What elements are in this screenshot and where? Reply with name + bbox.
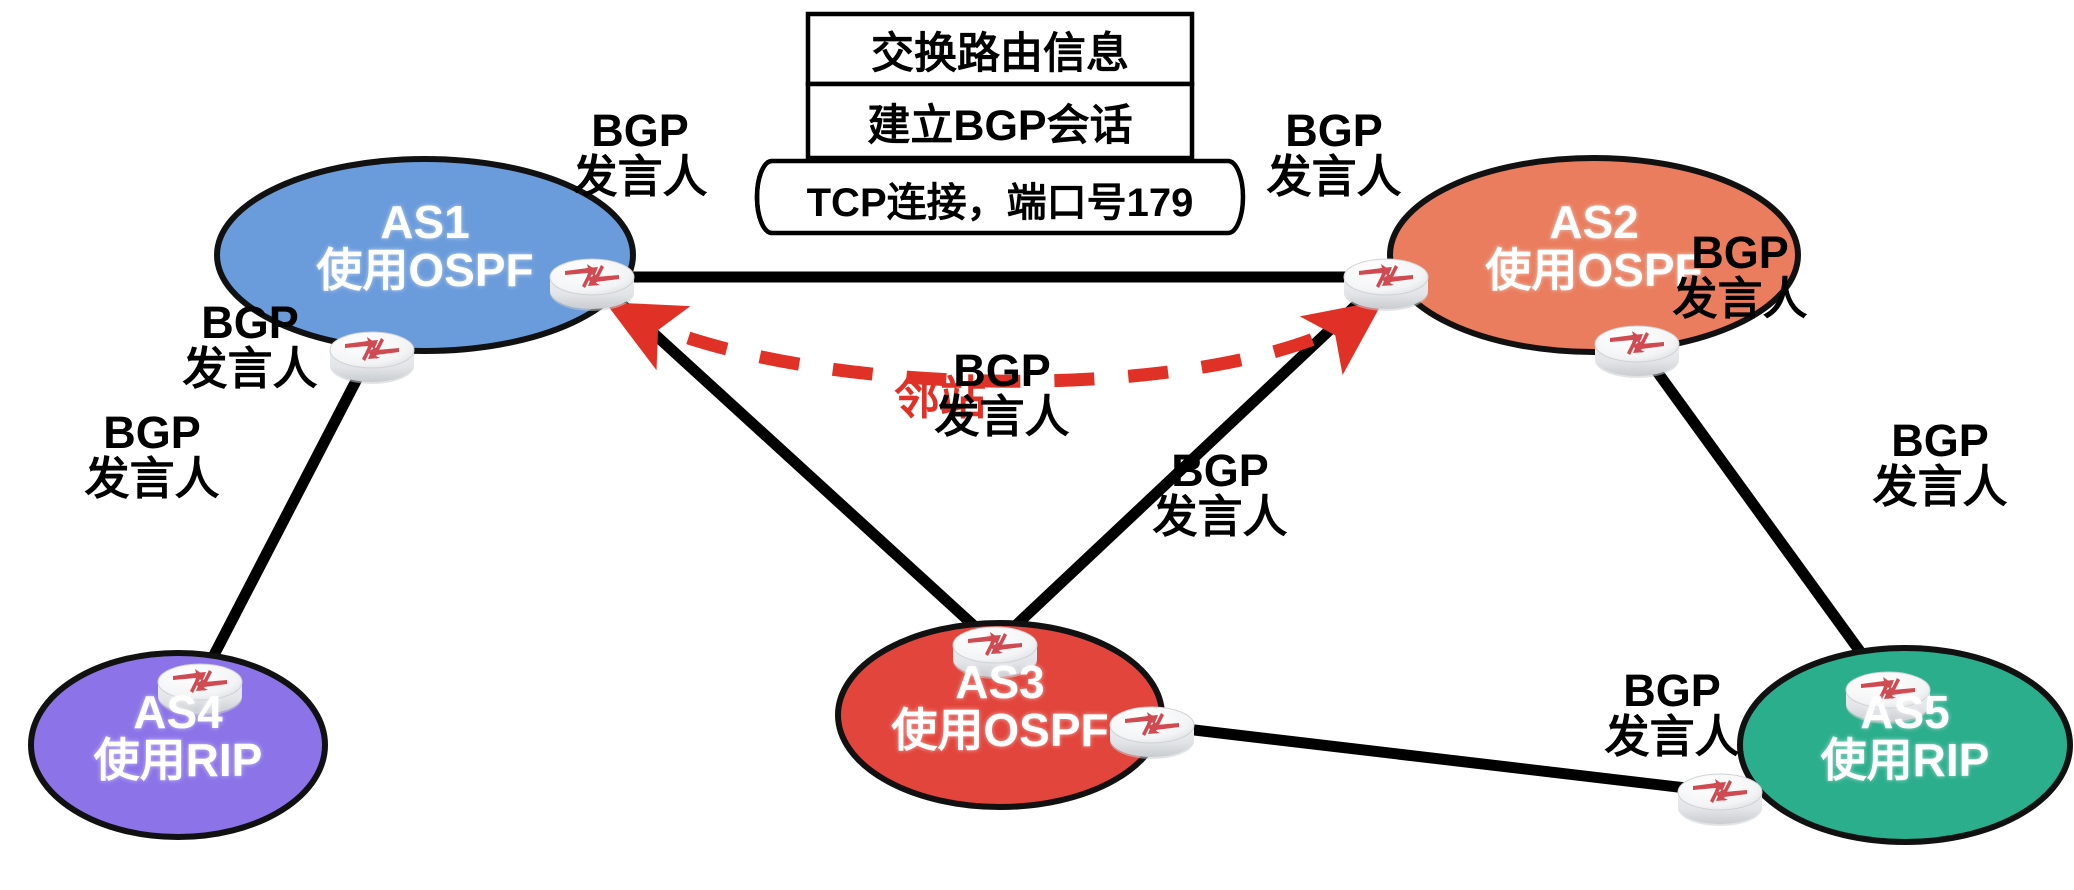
as-name: AS3 <box>800 659 1200 707</box>
bgp-speaker-label-lbl-as5-top: BGP发言人 <box>1830 418 2050 510</box>
speaker-text: 发言人 <box>1110 494 1330 540</box>
router-icon-r-as2-right[interactable] <box>1595 326 1679 378</box>
bgp-speaker-label-lbl-as4-top: BGP发言人 <box>42 410 262 502</box>
bgp-speaker-label-lbl-as2-left: BGP发言人 <box>1224 108 1444 200</box>
bgp-text: BGP <box>140 300 360 346</box>
bgp-text: BGP <box>892 348 1112 394</box>
as-name: AS1 <box>225 199 625 247</box>
bgp-speaker-label-lbl-as3-right: BGP发言人 <box>1110 448 1330 540</box>
diagram-canvas: 交换路由信息 建立BGP会话 TCP连接，端口号179 邻站 AS1使用OSPF… <box>0 0 2074 890</box>
bgp-text: BGP <box>1630 230 1850 276</box>
speaker-text: 发言人 <box>140 346 360 392</box>
bgp-text: BGP <box>1224 108 1444 154</box>
as-name: AS4 <box>0 689 378 737</box>
bgp-speaker-label-lbl-as5-left: BGP发言人 <box>1562 668 1782 760</box>
bgp-text: BGP <box>1110 448 1330 494</box>
bgp-speaker-label-lbl-as1-left: BGP发言人 <box>140 300 360 392</box>
bgp-text: BGP <box>1562 668 1782 714</box>
bgp-speaker-label-lbl-as3-top: BGP发言人 <box>892 348 1112 440</box>
link-r-as2-right-to-r-as5-top <box>1637 344 1888 690</box>
as-label-as4: AS4使用RIP <box>0 689 378 785</box>
speaker-text: 发言人 <box>42 456 262 502</box>
bgp-text: BGP <box>530 108 750 154</box>
link-r-as1-left-to-r-as4-top <box>200 350 372 682</box>
bgp-text: BGP <box>1830 418 2050 464</box>
link-r-as1-right-to-r-as3-top <box>592 277 995 645</box>
as-label-as3: AS3使用OSPF <box>800 659 1200 755</box>
as-protocol: 使用OSPF <box>800 707 1200 755</box>
callout-line-3-tcp: TCP连接，端口号179 <box>772 170 1228 228</box>
speaker-text: 发言人 <box>1830 464 2050 510</box>
as-label-as1: AS1使用OSPF <box>225 199 625 295</box>
speaker-text: 发言人 <box>530 154 750 200</box>
as-protocol: 使用OSPF <box>225 247 625 295</box>
callout-line-1: 交换路由信息 <box>808 19 1192 81</box>
speaker-text: 发言人 <box>1562 714 1782 760</box>
speaker-text: 发言人 <box>1224 154 1444 200</box>
bgp-speaker-label-lbl-as2-right: BGP发言人 <box>1630 230 1850 322</box>
callout-line-2: 建立BGP会话 <box>808 91 1192 153</box>
as-protocol: 使用RIP <box>0 737 378 785</box>
speaker-text: 发言人 <box>892 394 1112 440</box>
bgp-text: BGP <box>42 410 262 456</box>
bgp-speaker-label-lbl-as1-right: BGP发言人 <box>530 108 750 200</box>
speaker-text: 发言人 <box>1630 276 1850 322</box>
